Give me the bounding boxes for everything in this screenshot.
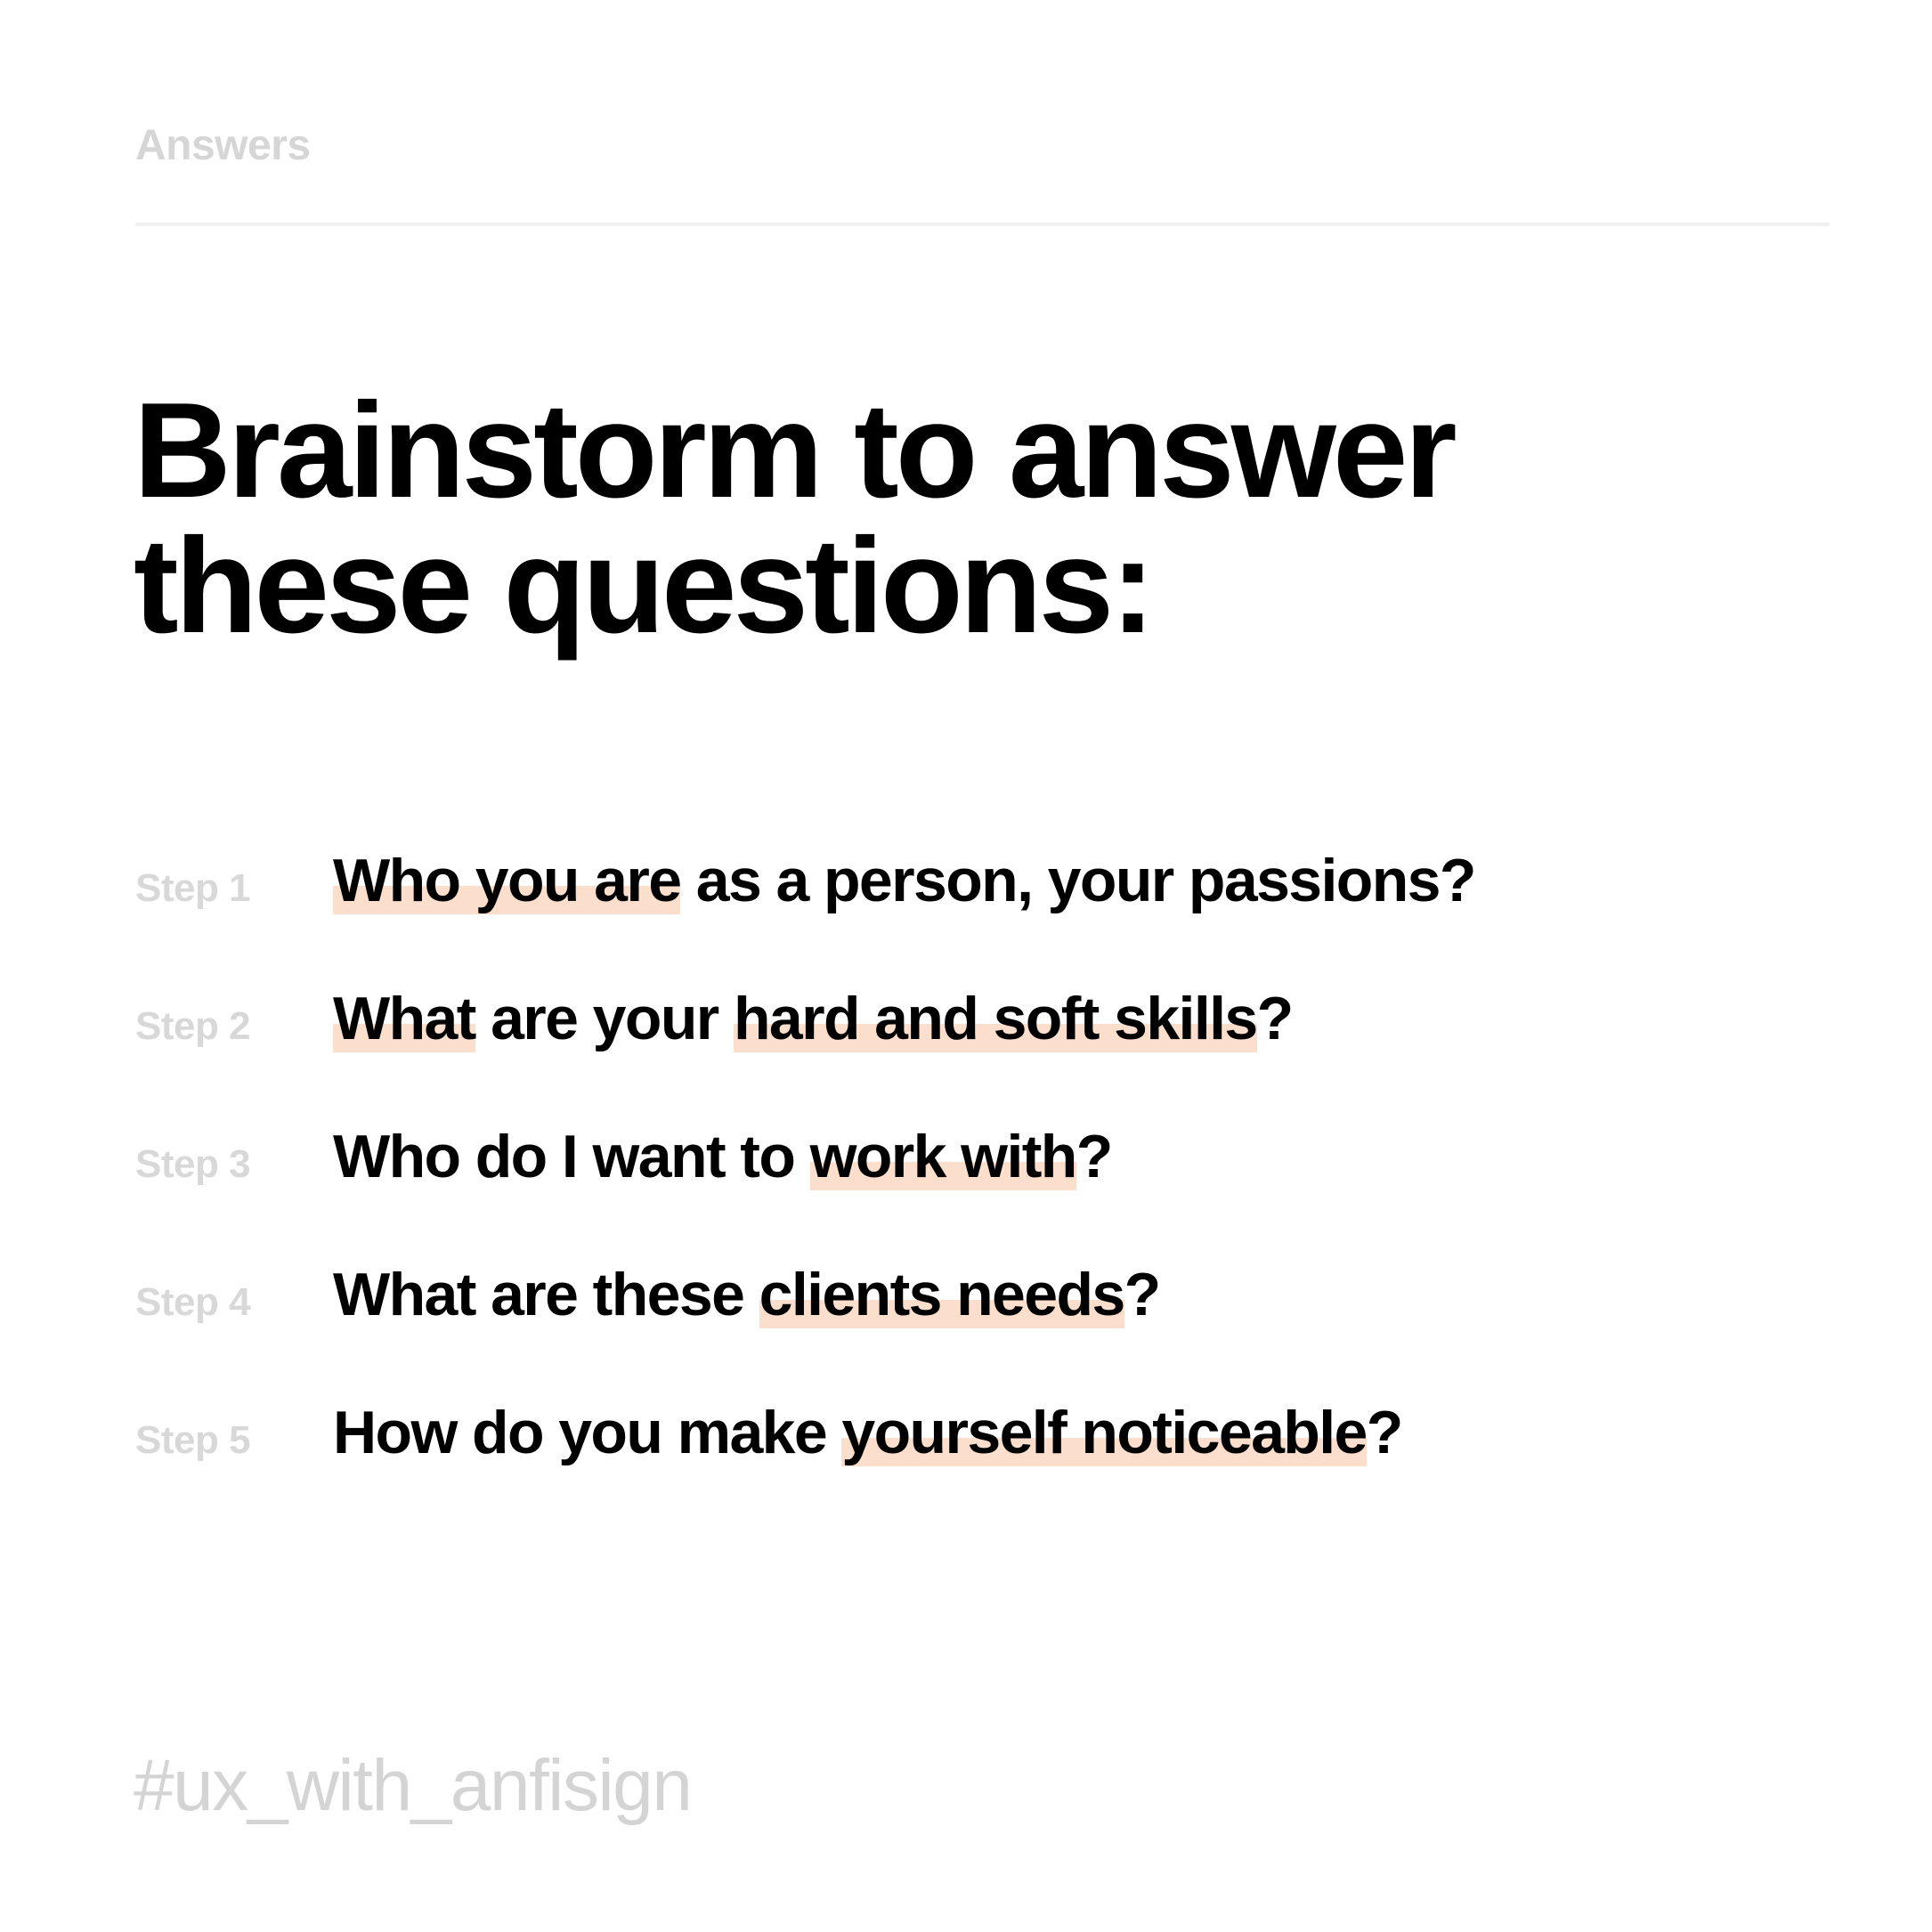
step-question: Who do I want to work with? [333,1126,1827,1187]
plain-phrase: ? [1367,1399,1402,1466]
plain-phrase: ? [1076,1123,1112,1190]
plain-phrase: ? [1124,1261,1160,1328]
plain-phrase: Who do I want to [333,1123,810,1190]
highlighted-phrase: work with [810,1123,1076,1190]
step-label: Step 2 [135,1007,333,1046]
header-divider [135,223,1830,226]
step-label: Step 5 [135,1421,333,1460]
slide-canvas: Answers Brainstorm to answer these quest… [0,0,1932,1932]
plain-phrase: as a person, your passions? [680,847,1474,914]
step-label: Step 4 [135,1283,333,1322]
step-row: Step 3Who do I want to work with? [135,1126,1827,1264]
section-kicker: Answers [135,125,311,167]
page-title: Brainstorm to answer these questions: [134,383,1701,653]
step-label: Step 1 [135,869,333,908]
plain-phrase: are your [475,985,734,1052]
plain-phrase: What are these [333,1261,759,1328]
highlighted-phrase: Who you are [333,847,680,914]
highlighted-phrase: clients needs [759,1261,1124,1328]
step-row: Step 5How do you make yourself noticeabl… [135,1402,1827,1540]
step-row: Step 2What are your hard and soft skills… [135,988,1827,1126]
page-title-line-1: Brainstorm to answer [134,383,1701,518]
steps-list: Step 1Who you are as a person, your pass… [135,850,1827,1540]
step-question: What are these clients needs? [333,1264,1827,1325]
plain-phrase: How do you make [333,1399,841,1466]
step-question: What are your hard and soft skills? [333,988,1827,1049]
highlighted-phrase: hard and soft skills [734,985,1257,1052]
highlighted-phrase: yourself noticeable [841,1399,1366,1466]
plain-phrase: ? [1257,985,1293,1052]
footer-hashtag: #ux_with_anfisign [134,1749,691,1822]
step-question: How do you make yourself noticeable? [333,1402,1827,1463]
step-row: Step 4What are these clients needs? [135,1264,1827,1402]
highlighted-phrase: What [333,985,475,1052]
step-label: Step 3 [135,1145,333,1184]
step-row: Step 1Who you are as a person, your pass… [135,850,1827,988]
step-question: Who you are as a person, your passions? [333,850,1827,911]
page-title-line-2: these questions: [134,518,1701,653]
